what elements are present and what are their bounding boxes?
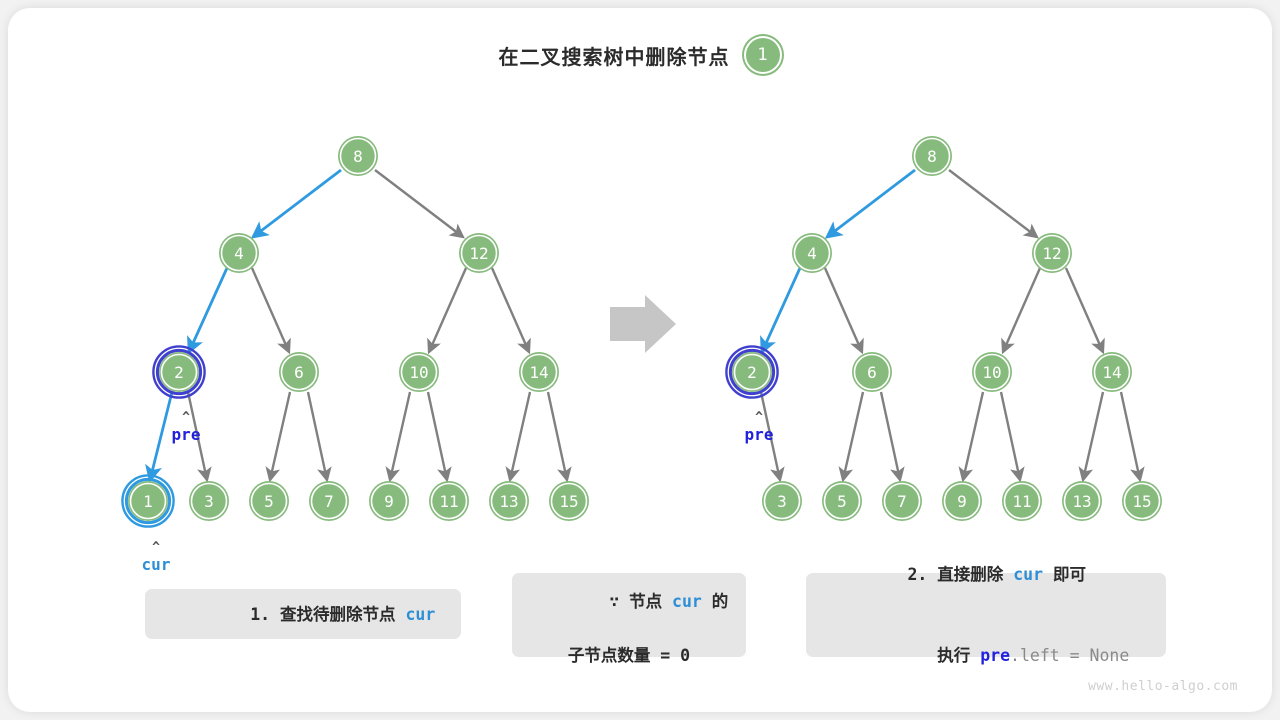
node-10-left: 10	[399, 352, 439, 392]
svg-text:15: 15	[1132, 492, 1151, 511]
node-8-right: 8	[912, 136, 952, 176]
svg-text:8: 8	[353, 147, 363, 166]
svg-text:2: 2	[747, 363, 757, 382]
node-15-right: 15	[1122, 481, 1162, 521]
svg-text:9: 9	[957, 492, 967, 511]
svg-text:4: 4	[234, 244, 244, 263]
svg-text:15: 15	[559, 492, 578, 511]
node-7-right: 7	[882, 481, 922, 521]
caption-step-2-code-cur: cur	[1013, 565, 1043, 584]
svg-text:4: 4	[807, 244, 817, 263]
svg-text:14: 14	[529, 363, 548, 382]
caption-step-2-line1-b: 即可	[1043, 565, 1086, 584]
node-1-left-cur: 1	[122, 475, 173, 526]
caption-reason-line1-b: 的	[702, 592, 728, 611]
svg-text:9: 9	[384, 492, 394, 511]
node-6-left: 6	[279, 352, 319, 392]
node-12-right: 12	[1032, 233, 1072, 273]
site-watermark: www.hello-algo.com	[1088, 679, 1238, 694]
node-5-right: 5	[822, 481, 862, 521]
caption-reason-line1-a: ∵ 节点	[609, 592, 672, 611]
transform-arrow-icon	[610, 295, 676, 353]
node-3-left: 3	[189, 481, 229, 521]
diagram-card: 在二叉搜索树中删除节点 1	[8, 8, 1272, 712]
cur-pointer-left: ^ cur	[130, 541, 182, 573]
right-tree-edges	[761, 170, 1140, 480]
caption-step-2-line2-b: .left = None	[1010, 646, 1129, 665]
caption-reason: ∵ 节点 cur 的 子节点数量 = 0	[512, 573, 746, 657]
pre-pointer-right: ^ pre	[733, 411, 785, 443]
svg-text:10: 10	[409, 363, 428, 382]
caption-step-2-line2-a: 执行	[907, 646, 980, 665]
svg-text:3: 3	[777, 492, 787, 511]
svg-text:12: 12	[469, 244, 488, 263]
caret-icon: ^	[130, 541, 182, 554]
caption-step-1-line: 1. 查找待删除节点 cur	[171, 574, 436, 655]
caption-reason-code: cur	[672, 592, 702, 611]
svg-text:5: 5	[837, 492, 847, 511]
caption-step-1: 1. 查找待删除节点 cur	[145, 589, 461, 639]
svg-text:5: 5	[264, 492, 274, 511]
node-2-left-pre: 2	[153, 346, 204, 397]
node-14-left: 14	[519, 352, 559, 392]
caption-reason-line1: ∵ 节点 cur 的	[530, 561, 729, 642]
caption-step-2-line1-a: 2. 直接删除	[907, 565, 1013, 584]
svg-text:8: 8	[927, 147, 937, 166]
node-6-right: 6	[852, 352, 892, 392]
caption-step-1-code: cur	[405, 605, 435, 624]
svg-text:6: 6	[867, 363, 877, 382]
left-tree-edges	[150, 170, 567, 480]
node-12-left: 12	[459, 233, 499, 273]
node-3-right: 3	[762, 481, 802, 521]
node-10-right: 10	[972, 352, 1012, 392]
caption-step-2-line1: 2. 直接删除 cur 即可	[828, 534, 1166, 615]
svg-text:1: 1	[143, 492, 153, 511]
node-7-left: 7	[309, 481, 349, 521]
caret-icon: ^	[733, 411, 785, 424]
caption-reason-line2: 子节点数量 = 0	[568, 642, 690, 669]
page-root: 在二叉搜索树中删除节点 1	[0, 0, 1280, 720]
node-9-left: 9	[369, 481, 409, 521]
right-tree-nodes: 8 4 12 2	[726, 136, 1162, 521]
pre-pointer-left: ^ pre	[160, 411, 212, 443]
pre-pointer-right-label: pre	[745, 425, 774, 444]
node-5-left: 5	[249, 481, 289, 521]
svg-text:7: 7	[897, 492, 907, 511]
node-13-left: 13	[489, 481, 529, 521]
svg-text:13: 13	[1072, 492, 1091, 511]
svg-text:2: 2	[174, 363, 184, 382]
svg-text:10: 10	[982, 363, 1001, 382]
node-15-left: 15	[549, 481, 589, 521]
pre-pointer-left-label: pre	[172, 425, 201, 444]
svg-text:11: 11	[1012, 492, 1031, 511]
node-13-right: 13	[1062, 481, 1102, 521]
svg-text:13: 13	[499, 492, 518, 511]
svg-text:11: 11	[439, 492, 458, 511]
svg-text:7: 7	[324, 492, 334, 511]
svg-text:12: 12	[1042, 244, 1061, 263]
node-11-right: 11	[1002, 481, 1042, 521]
node-11-left: 11	[429, 481, 469, 521]
node-2-right-pre: 2	[726, 346, 777, 397]
node-8-left: 8	[338, 136, 378, 176]
svg-text:14: 14	[1102, 363, 1121, 382]
svg-text:3: 3	[204, 492, 214, 511]
node-4-left: 4	[219, 233, 259, 273]
caption-step-1-text: 1. 查找待删除节点	[250, 605, 405, 624]
caption-step-2: 2. 直接删除 cur 即可 执行 pre.left = None	[806, 573, 1166, 657]
svg-text:6: 6	[294, 363, 304, 382]
node-4-right: 4	[792, 233, 832, 273]
node-14-right: 14	[1092, 352, 1132, 392]
caret-icon: ^	[160, 411, 212, 424]
cur-pointer-left-label: cur	[142, 555, 171, 574]
caption-step-2-code-pre: pre	[980, 646, 1010, 665]
node-9-right: 9	[942, 481, 982, 521]
